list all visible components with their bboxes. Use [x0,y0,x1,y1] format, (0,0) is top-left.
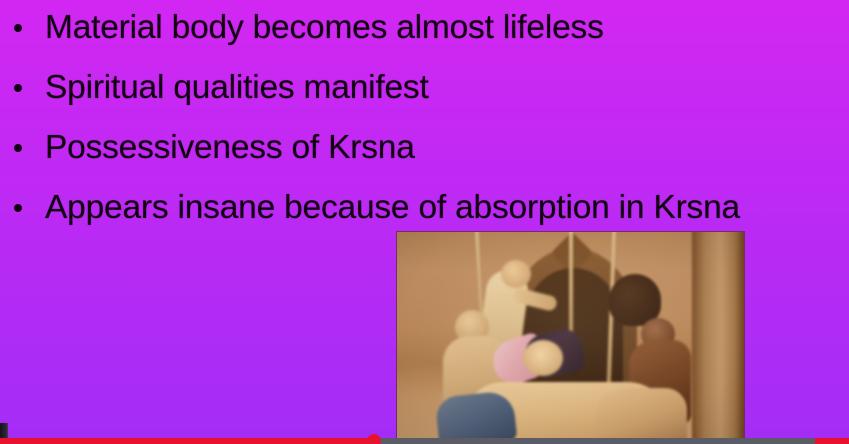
bullet-text: Possessiveness of Krsna [45,129,415,166]
bullet-text: Spiritual qualities manifest [45,69,429,106]
list-item: Possessiveness of Krsna [0,124,800,171]
bullet-text: Material body becomes almost lifeless [45,9,604,46]
video-player-frame: Material body becomes almost lifeless Sp… [0,0,849,444]
bullet-dot-icon [14,84,22,92]
bullet-dot-icon [14,144,22,152]
player-control-edge [0,423,8,438]
list-item: Spiritual qualities manifest [0,64,800,111]
painting-soft-focus-overlay [397,232,744,444]
bullet-dot-icon [14,24,22,32]
slide-bullet-list: Material body becomes almost lifeless Sp… [0,4,800,244]
video-progress-bar[interactable] [0,438,849,444]
list-item: Material body becomes almost lifeless [0,4,800,51]
video-progress-played [0,438,374,444]
bullet-dot-icon [14,204,22,212]
list-item: Appears insane because of absorption in … [0,184,800,231]
video-progress-tail [815,438,849,444]
video-progress-handle[interactable] [367,434,381,444]
bullet-text: Appears insane because of absorption in … [45,189,740,226]
devotional-painting [397,232,744,444]
